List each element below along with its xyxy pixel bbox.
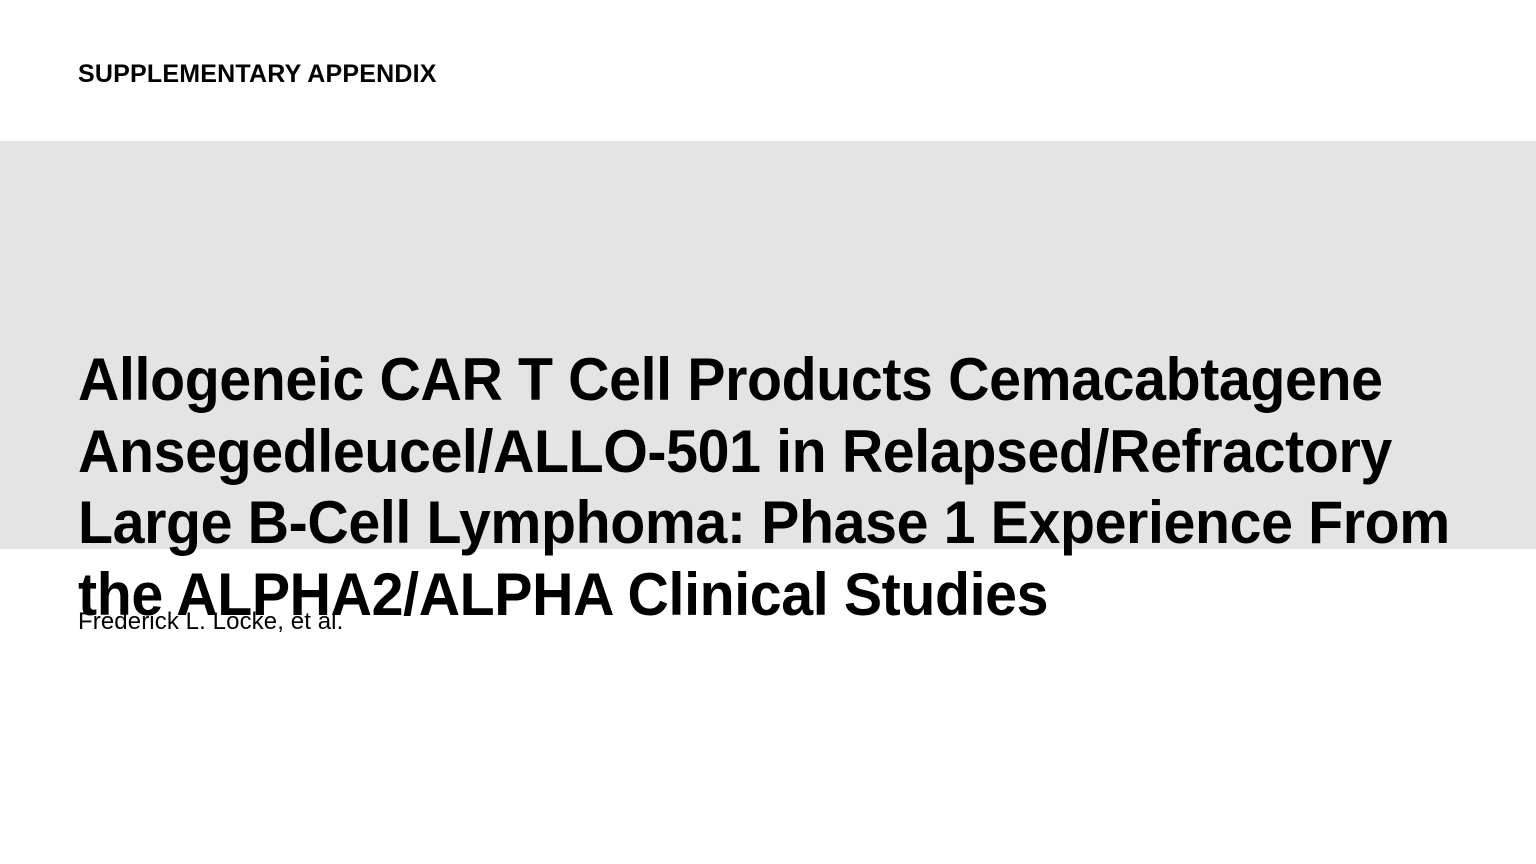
presentation-title: Allogeneic CAR T Cell Products Cemacabta… xyxy=(78,344,1378,630)
title-band: Allogeneic CAR T Cell Products Cemacabta… xyxy=(0,141,1536,549)
title-slide: SUPPLEMENTARY APPENDIX Allogeneic CAR T … xyxy=(0,0,1536,864)
title-line-3: Large B-Cell Lymphoma: Phase 1 Experienc… xyxy=(78,487,1320,559)
author-byline: Frederick L. Locke, et al. xyxy=(78,606,343,638)
supplementary-appendix-label: SUPPLEMENTARY APPENDIX xyxy=(78,58,437,90)
title-line-1: Allogeneic CAR T Cell Products Cemacabta… xyxy=(78,344,1320,416)
slide-body-empty-area xyxy=(0,660,1536,864)
title-line-2: Ansegedleucel/ALLO-501 in Relapsed/Refra… xyxy=(78,416,1320,488)
